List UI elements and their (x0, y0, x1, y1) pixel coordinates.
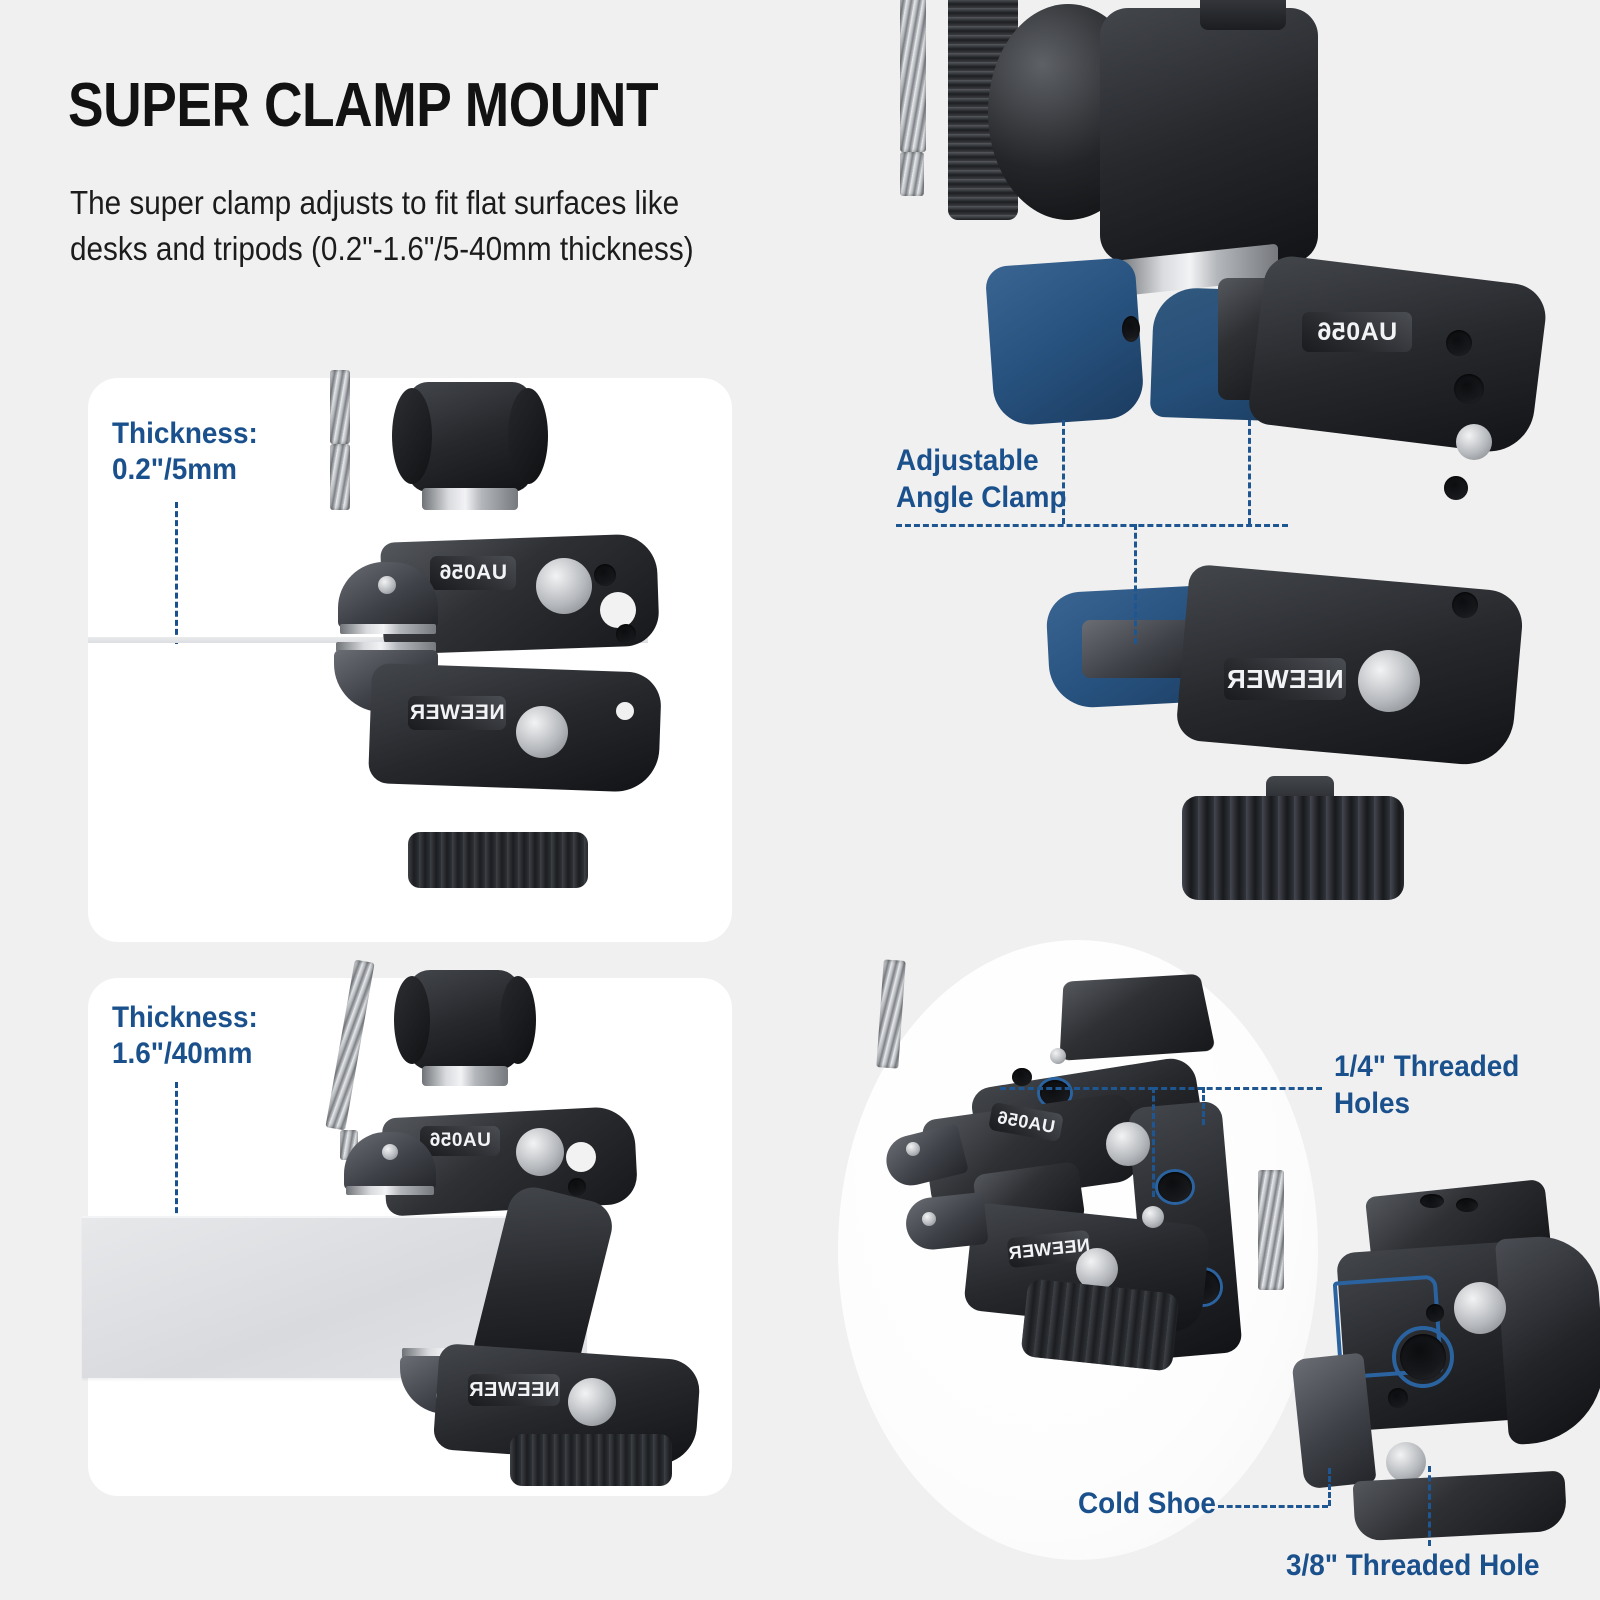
model-badge-thick: UA056 (420, 1126, 500, 1156)
clamp-illustration-thick: UA056 NEEWER (340, 960, 720, 1490)
thickness-label-thin: Thickness: 0.2"/5mm (112, 416, 258, 488)
callout-adjustable-angle-clamp: Adjustable Angle Clamp (896, 443, 1067, 516)
callout-line-angle-branch-2 (1248, 420, 1251, 524)
cold-shoe-plate (1059, 974, 1215, 1061)
callout-quarter-threaded-holes: 1/4" Threaded Holes (1334, 1049, 1581, 1122)
callout-line-quarter-stub (1000, 1087, 1154, 1090)
callout-line-cold-shoe-branch (1328, 1468, 1331, 1506)
detail-tightening-knob (1020, 1278, 1179, 1371)
model-badge-thin: UA056 (430, 556, 516, 590)
brand-badge-thick: NEEWER (468, 1374, 560, 1406)
quarter-threaded-hole-side (1158, 1172, 1192, 1202)
hero-model-badge: UA056 (1302, 312, 1412, 352)
callout-line-angle-horizontal (896, 524, 1288, 527)
callout-cold-shoe: Cold Shoe (1078, 1486, 1216, 1523)
callout-line-quarter-branch-2 (1152, 1087, 1155, 1197)
brand-badge-thin: NEEWER (408, 696, 506, 730)
thickness-leader-line-thick (175, 1082, 178, 1222)
thickness-label-thick: Thickness: 1.6"/40mm (112, 1000, 258, 1072)
callout-line-angle-branch-3 (1134, 524, 1137, 644)
angle-clamp-paddle-left (985, 257, 1146, 427)
callout-three-eighths-threaded-hole: 3/8" Threaded Hole (1286, 1548, 1540, 1585)
hero-brand-badge: NEEWER (1224, 658, 1346, 700)
callout-line-quarter-branch-1 (1202, 1087, 1205, 1125)
thickness-leader-line-thin (175, 502, 178, 644)
hero-tightening-knob (1182, 796, 1404, 900)
callout-line-quarter-horizontal (1152, 1087, 1322, 1090)
page-title: SUPER CLAMP MOUNT (68, 74, 658, 137)
angled-clamp-detail-illustration: UA056 NEEWER (880, 960, 1300, 1520)
callout-line-three-eighths-branch (1428, 1466, 1431, 1546)
infographic-canvas: SUPER CLAMP MOUNT The super clamp adjust… (0, 0, 1600, 1600)
page-subtitle: The super clamp adjusts to fit flat surf… (70, 180, 694, 271)
callout-line-cold-shoe-horizontal (1218, 1505, 1328, 1508)
clamp-illustration-thin: UA056 NEEWER (330, 370, 690, 910)
callout-line-angle-branch-1 (1062, 420, 1065, 524)
